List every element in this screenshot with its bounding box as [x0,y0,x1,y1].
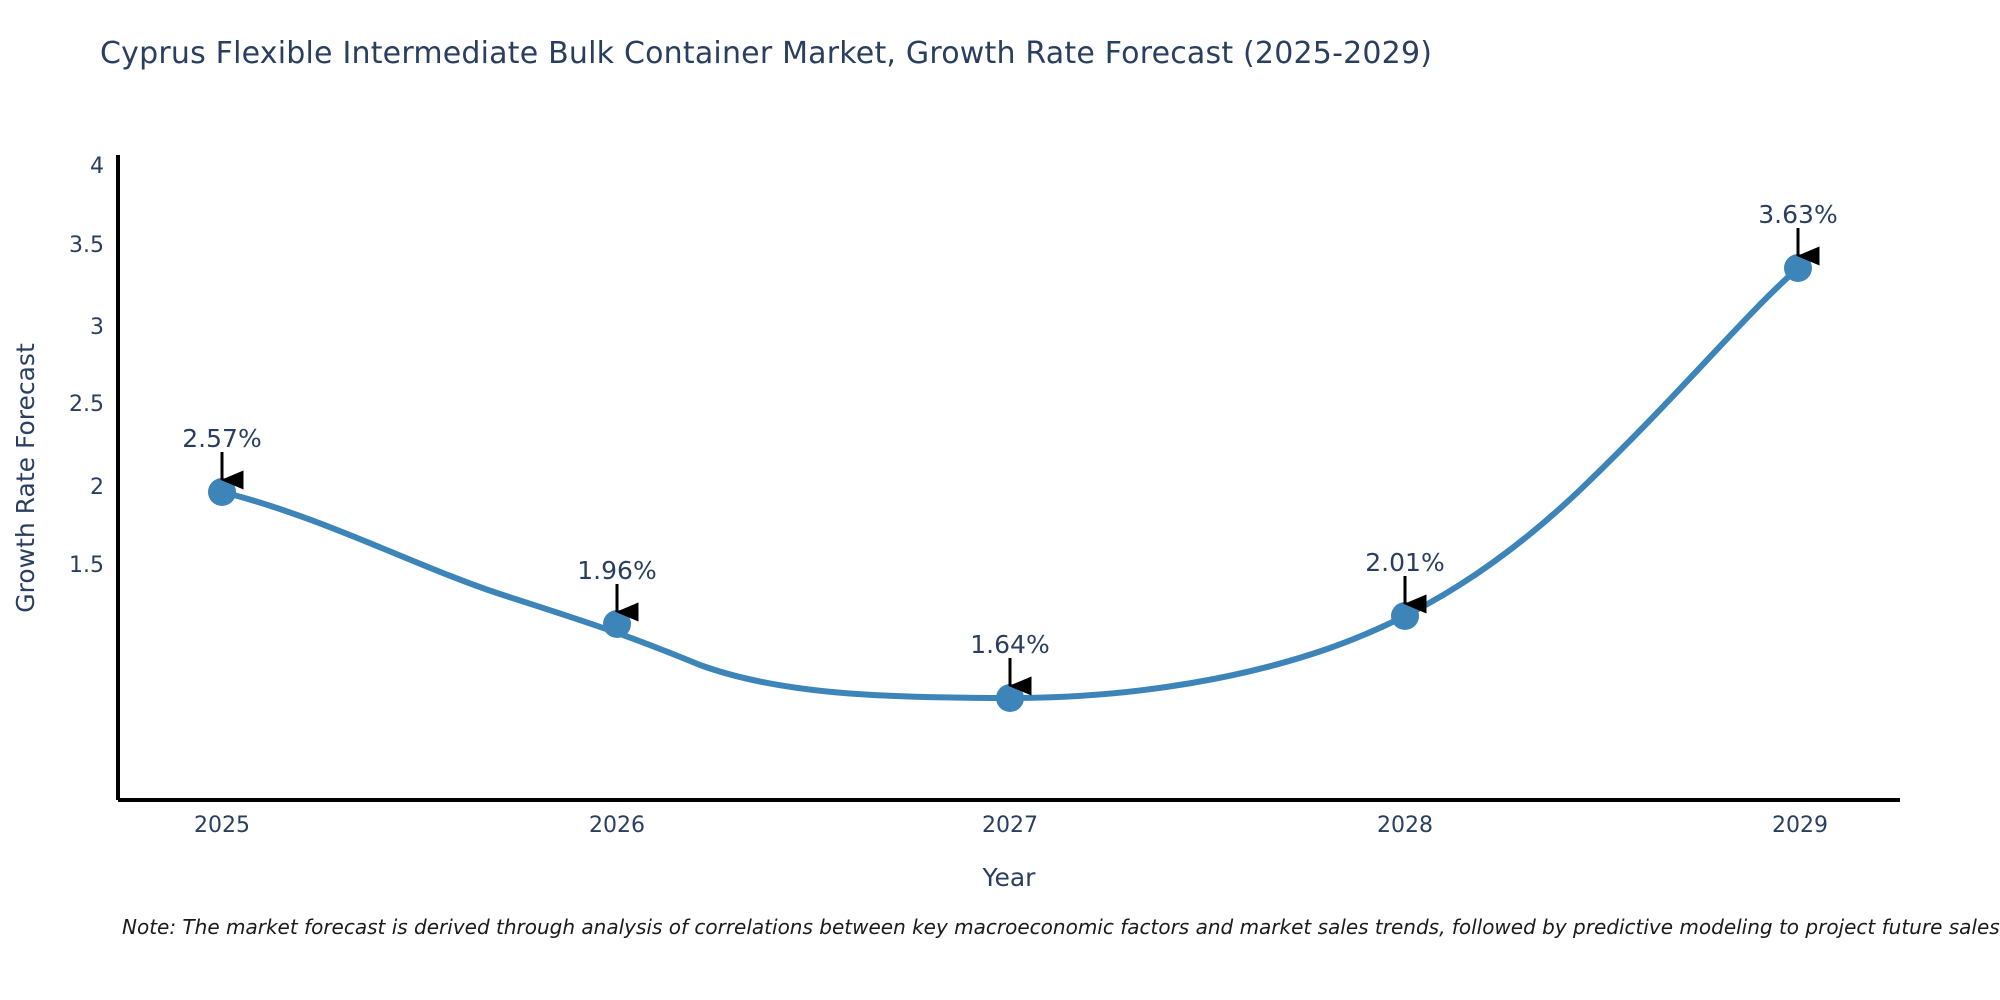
x-tick-label: 2025 [194,813,250,838]
x-tick-label: 2026 [589,813,645,838]
data-point-label: 1.96% [577,556,656,585]
y-tick-labels: 4 3.5 3 2.5 2 1.5 [69,154,104,578]
data-point-marker[interactable] [603,610,631,638]
x-tick-labels: 2025 2026 2027 2028 2029 [194,813,1828,838]
y-tick-label: 2.5 [69,392,104,417]
chart-footnote: Note: The market forecast is derived thr… [122,915,2000,939]
x-tick-label: 2027 [982,813,1038,838]
data-point-label: 2.57% [182,424,261,453]
data-point-marker[interactable] [996,684,1024,712]
data-point-label: 1.64% [970,630,1049,659]
line-chart-plot: 4 3.5 3 2.5 2 1.5 2025 2026 2027 2028 20… [0,0,2000,1000]
data-point-label: 3.63% [1758,200,1837,229]
x-axis-title: Year [982,863,1037,892]
y-tick-label: 1.5 [69,553,104,578]
x-tick-label: 2029 [1772,813,1828,838]
y-axis-title: Growth Rate Forecast [11,343,40,613]
y-tick-label: 2 [90,475,104,500]
data-point-label: 2.01% [1365,548,1444,577]
annotation-arrows [222,228,1798,686]
data-point-marker[interactable] [208,478,236,506]
x-tick-label: 2028 [1377,813,1433,838]
y-tick-label: 3.5 [69,233,104,258]
y-tick-label: 4 [90,154,104,179]
data-point-labels: 2.57% 1.96% 1.64% 2.01% 3.63% [182,200,1837,659]
y-tick-label: 3 [90,315,104,340]
chart-figure: Cyprus Flexible Intermediate Bulk Contai… [0,0,2000,1000]
data-point-marker[interactable] [1391,602,1419,630]
data-point-marker[interactable] [1784,254,1812,282]
